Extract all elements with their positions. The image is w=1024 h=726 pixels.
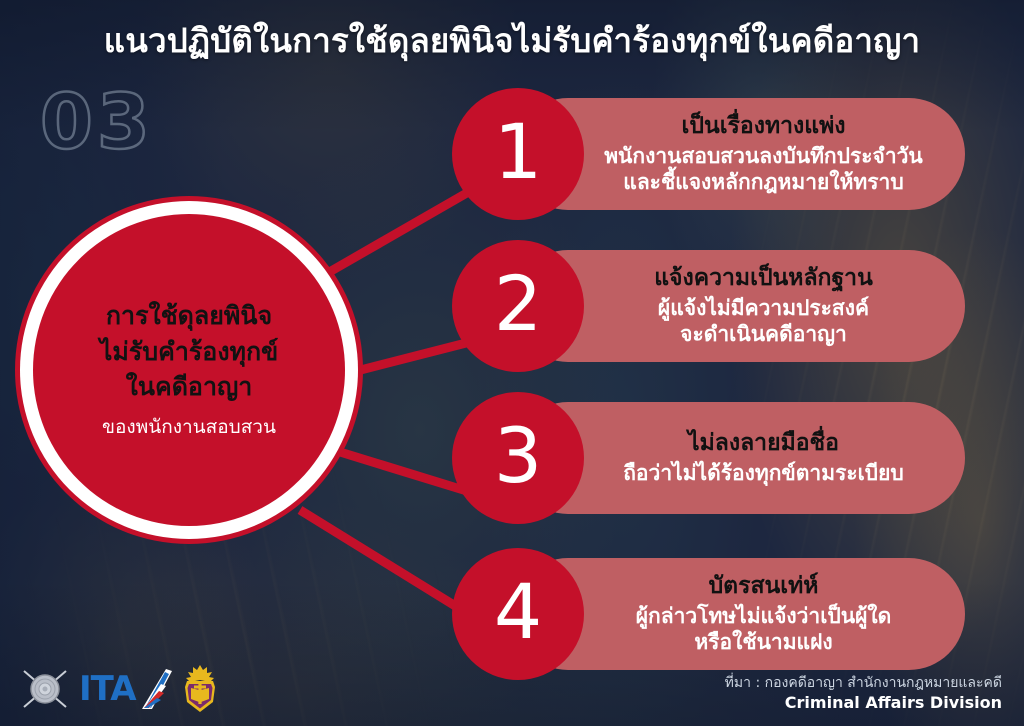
item-number: 3 <box>494 418 542 494</box>
item-heading: บัตรสนเท่ห์ <box>709 572 819 601</box>
item-body: ถือว่าไม่ได้ร้องทุกข์ตามระเบียบ <box>623 460 904 487</box>
infographic-canvas: แนวปฏิบัติในการใช้ดุลยพินิจไม่รับคำร้องท… <box>0 0 1024 726</box>
ita-wordmark: ITA <box>79 672 136 706</box>
ita-logo: ITA <box>79 668 172 710</box>
royal-crest-icon <box>181 664 219 714</box>
hub-circle: การใช้ดุลยพินิจ ไม่รับคำร้องทุกข์ ในคดีอ… <box>33 214 345 526</box>
item-heading: แจ้งความเป็นหลักฐาน <box>654 264 873 293</box>
item-body: ผู้กล่าวโทษไม่แจ้งว่าเป็นผู้ใด หรือใช้นา… <box>636 603 892 657</box>
connector-line-3 <box>340 452 470 492</box>
footer-credit-th: ที่มา : กองคดีอาญา สำนักงานกฎหมายและคดี <box>725 674 1002 693</box>
hub-title: การใช้ดุลยพินิจ ไม่รับคำร้องทุกข์ ในคดีอ… <box>86 298 292 405</box>
item-body: พนักงานสอบสวนลงบันทึกประจำวัน และชี้แจงห… <box>604 143 923 197</box>
footer-credit: ที่มา : กองคดีอาญา สำนักงานกฎหมายและคดี … <box>725 674 1002 714</box>
connector-line-1 <box>312 190 472 282</box>
footer-credit-en: Criminal Affairs Division <box>725 692 1002 714</box>
item-number: 2 <box>494 266 542 342</box>
footer-logos: ITA <box>20 664 219 714</box>
item-number-badge: 3 <box>452 392 584 524</box>
police-emblem-icon <box>20 665 70 713</box>
item-body: ผู้แจ้งไม่มีความประสงค์ จะดำเนินคดีอาญา <box>658 295 869 349</box>
item-number-badge: 1 <box>452 88 584 220</box>
item-heading: เป็นเรื่องทางแพ่ง <box>682 112 846 141</box>
connector-line-4 <box>300 510 478 620</box>
item-number-badge: 2 <box>452 240 584 372</box>
item-number-badge: 4 <box>452 548 584 680</box>
hub-subtitle: ของพนักงานสอบสวน <box>102 412 276 442</box>
item-number: 4 <box>494 574 542 650</box>
connector-line-2 <box>345 342 470 374</box>
item-heading: ไม่ลงลายมือชื่อ <box>688 429 839 458</box>
ita-flag-swoosh-icon <box>136 668 172 710</box>
item-number: 1 <box>494 114 542 190</box>
